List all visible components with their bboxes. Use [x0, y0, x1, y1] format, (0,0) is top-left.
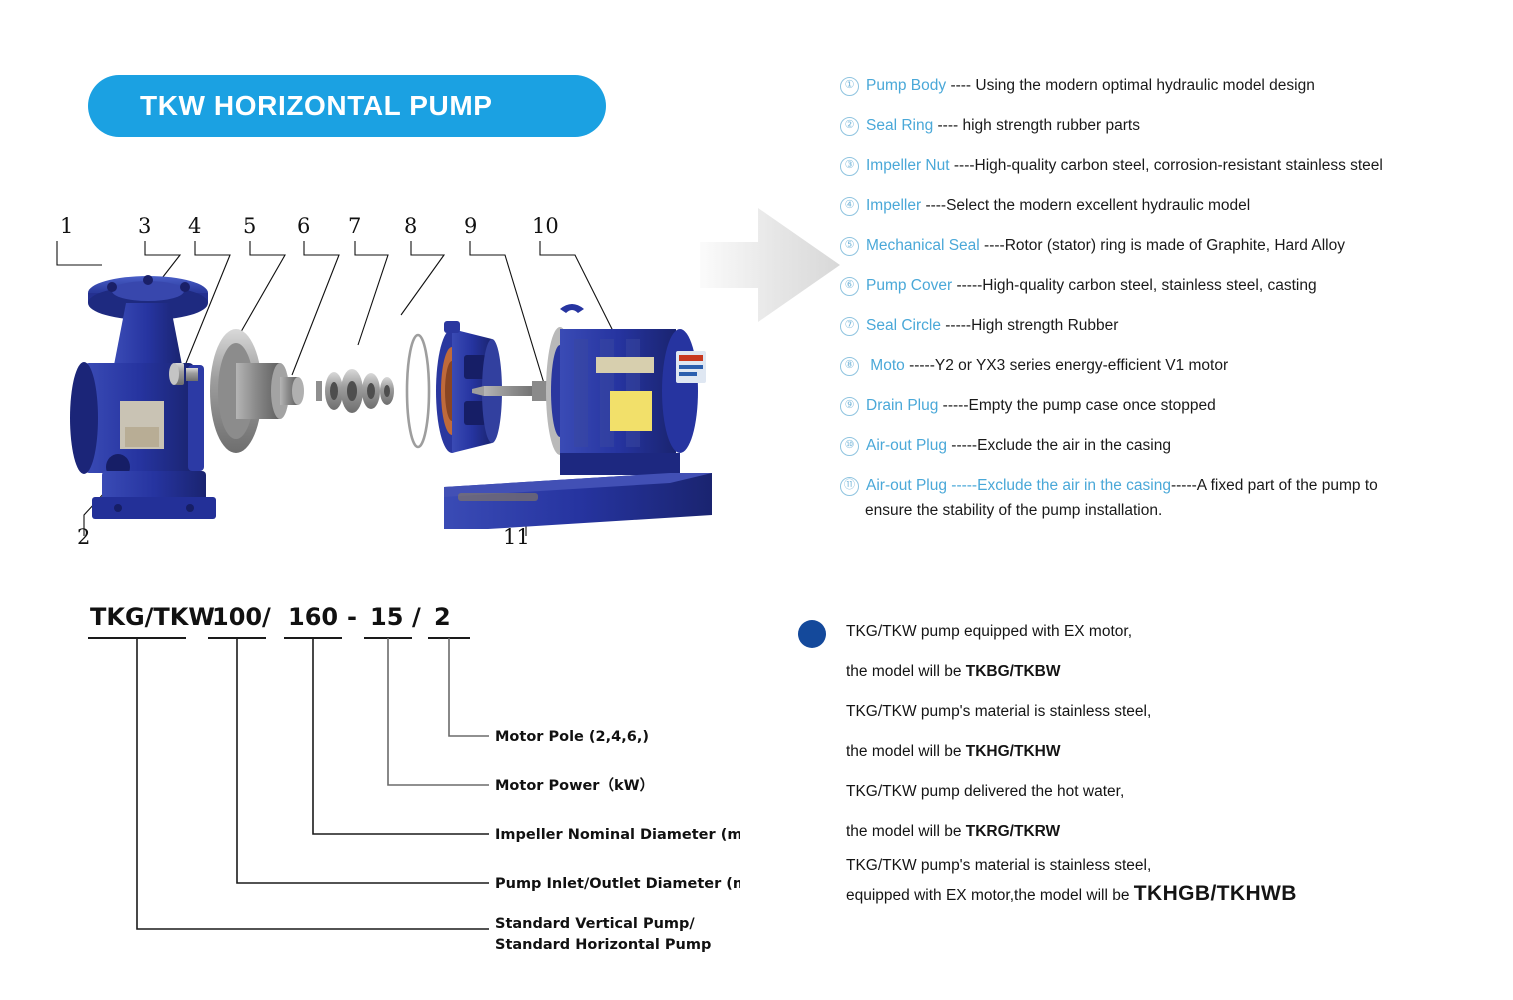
callout-impeller-diam: Impeller Nominal Diameter (mm): [495, 827, 740, 843]
feature-number-icon: ⑤: [840, 237, 859, 256]
feature-label: Seal Circle: [866, 317, 941, 334]
feature-description: Exclude the air in the casing: [977, 437, 1171, 454]
callout-motor-pole: Motor Pole (2,4,6,): [495, 729, 649, 745]
exploded-pump-diagram: 1 3 4 5 6 7 8 9 10 2 11: [40, 205, 730, 555]
feature-separator: ----: [950, 157, 975, 174]
callout-number-1: 1: [60, 214, 73, 238]
callout-number-5: 5: [243, 214, 256, 238]
feature-number-icon: ⑥: [840, 277, 859, 296]
feature-label: Seal Ring: [866, 117, 933, 134]
pump-casing-part: [70, 275, 216, 519]
feature-item-10: ⑩Air-out Plug -----Exclude the air in th…: [840, 426, 1500, 466]
feature-item-8: ⑧ Moto -----Y2 or YX3 series energy-effi…: [840, 346, 1500, 386]
note-text: the model will be: [846, 823, 966, 840]
feature-number-icon: ④: [840, 197, 859, 216]
feature-list: ①Pump Body ---- Using the modern optimal…: [840, 66, 1500, 523]
feature-number-icon: ⑪: [840, 477, 859, 496]
feature-separator: ----: [921, 197, 946, 214]
feature-number-icon: ③: [840, 157, 859, 176]
feature-description: Select the modern excellent hydraulic mo…: [946, 197, 1250, 214]
base-plate-part: [444, 473, 712, 529]
model-nomenclature-diagram: TKG/TKW 100 / 160 - 15 / 2: [40, 595, 740, 975]
note-line-7: TKG/TKW pump's material is stainless ste…: [846, 852, 1418, 880]
feature-label: Impeller: [866, 197, 921, 214]
feature-description: High strength Rubber: [971, 317, 1118, 334]
code-part-pole: 2: [434, 603, 451, 631]
feature-item-6: ⑥Pump Cover -----High-quality carbon ste…: [840, 266, 1500, 306]
callout-number-4: 4: [188, 214, 201, 238]
feature-description: Empty the pump case once stopped: [969, 397, 1216, 414]
feature-separator: ----: [980, 237, 1005, 254]
note-text: the model will be: [846, 663, 966, 680]
note-text: TKG/TKW pump equipped with EX motor,: [846, 623, 1132, 640]
feature-item-2: ②Seal Ring ---- high strength rubber par…: [840, 106, 1500, 146]
product-spec-sheet: TKW HORIZONTAL PUMP: [0, 0, 1513, 1000]
callout-number-10: 10: [532, 214, 559, 238]
callout-pump-type-line2: Standard Horizontal Pump: [495, 937, 711, 953]
callout-number-8: 8: [404, 214, 417, 238]
code-separator-1: /: [262, 603, 271, 631]
feature-description: A fixed part of the pump to: [1197, 477, 1378, 494]
feature-label: Air-out Plug: [866, 437, 947, 454]
feature-label: Impeller Nut: [866, 157, 950, 174]
note-text: TKG/TKW pump delivered the hot water,: [846, 783, 1124, 800]
seal-circle-part: [407, 335, 429, 447]
feature-separator: -----: [947, 477, 977, 494]
feature-item-9: ⑨Drain Plug -----Empty the pump case onc…: [840, 386, 1500, 426]
feature-number-icon: ⑨: [840, 397, 859, 416]
feature-separator: ----: [946, 77, 975, 94]
feature-separator: -----: [941, 317, 971, 334]
code-part-inlet: 100: [212, 603, 262, 631]
feature-description-line2: ensure the stability of the pump install…: [865, 498, 1500, 523]
feature-description: Using the modern optimal hydraulic model…: [975, 77, 1314, 94]
note-text: the model will be: [846, 743, 966, 760]
callout-pump-type-line1: Standard Vertical Pump/: [495, 916, 695, 932]
feature-separator-2: -----: [1171, 477, 1197, 494]
code-separator-3: /: [412, 603, 421, 631]
feature-item-1: ①Pump Body ---- Using the modern optimal…: [840, 66, 1500, 106]
feature-label: Moto: [866, 357, 905, 374]
feature-separator: -----: [938, 397, 968, 414]
callout-inlet-diam: Pump Inlet/Outlet Diameter (mm): [495, 876, 740, 892]
note-line-1: TKG/TKW pump equipped with EX motor,: [846, 612, 1418, 652]
callout-number-9: 9: [464, 214, 477, 238]
feature-number-icon: ⑧: [840, 357, 859, 376]
impeller-part: [210, 329, 304, 453]
mechanical-seal-part: [316, 369, 394, 413]
feature-label: Pump Cover: [866, 277, 952, 294]
feature-label: Air-out Plug: [866, 477, 947, 494]
callout-number-7: 7: [348, 214, 361, 238]
feature-item-11: ⑪Air-out Plug -----Exclude the air in th…: [840, 466, 1500, 523]
note-line-3: TKG/TKW pump's material is stainless ste…: [846, 692, 1418, 732]
motor-part: [546, 304, 706, 475]
code-part-series: TKG/TKW: [90, 603, 215, 631]
feature-separator: ----: [933, 117, 962, 134]
feature-item-7: ⑦Seal Circle -----High strength Rubber: [840, 306, 1500, 346]
feature-number-icon: ⑩: [840, 437, 859, 456]
feature-label: Pump Body: [866, 77, 946, 94]
feature-description: High-quality carbon steel, stainless ste…: [982, 277, 1316, 294]
feature-separator: -----: [905, 357, 935, 374]
right-arrow-separator: [700, 200, 850, 330]
page-title: TKW HORIZONTAL PUMP: [140, 90, 493, 122]
note-model-code-primary: TKHGB/TKHWB: [1134, 882, 1297, 905]
feature-item-3: ③Impeller Nut ----High-quality carbon st…: [840, 146, 1500, 186]
note-line-6: the model will be TKRG/TKRW: [846, 812, 1418, 852]
note-line-2: the model will be TKBG/TKBW: [846, 652, 1418, 692]
feature-item-5: ⑤Mechanical Seal ----Rotor (stator) ring…: [840, 226, 1500, 266]
feature-item-4: ④Impeller ----Select the modern excellen…: [840, 186, 1500, 226]
feature-number-icon: ⑦: [840, 317, 859, 336]
feature-separator: -----: [952, 277, 982, 294]
note-text: TKG/TKW pump's material is stainless ste…: [846, 857, 1151, 874]
feature-number-icon: ①: [840, 77, 859, 96]
note-line-4: the model will be TKHG/TKHW: [846, 732, 1418, 772]
note-line-8: equipped with EX motor,the model will be…: [846, 880, 1418, 908]
feature-label: Drain Plug: [866, 397, 938, 414]
feature-number-icon: ②: [840, 117, 859, 136]
bullet-dot-icon: [798, 620, 826, 648]
note-model-code: TKBG/TKBW: [966, 663, 1061, 680]
code-separator-2: -: [347, 603, 357, 631]
feature-separator: -----: [947, 437, 977, 454]
feature-description: High-quality carbon steel, corrosion-res…: [975, 157, 1383, 174]
code-part-power: 15: [370, 603, 403, 631]
note-text: TKG/TKW pump's material is stainless ste…: [846, 703, 1151, 720]
code-part-impeller: 160: [288, 603, 338, 631]
feature-description: Rotor (stator) ring is made of Graphite,…: [1005, 237, 1345, 254]
note-text: equipped with EX motor,the model will be: [846, 887, 1134, 904]
note-model-code: TKHG/TKHW: [966, 743, 1061, 760]
feature-description-blue: Exclude the air in the casing: [977, 477, 1171, 494]
page-title-banner: TKW HORIZONTAL PUMP: [88, 75, 606, 137]
note-line-5: TKG/TKW pump delivered the hot water,: [846, 772, 1418, 812]
feature-description: high strength rubber parts: [962, 117, 1140, 134]
note-model-code: TKRG/TKRW: [966, 823, 1060, 840]
callout-number-3: 3: [138, 214, 151, 238]
model-variant-notes: TKG/TKW pump equipped with EX motor, the…: [798, 612, 1418, 908]
feature-description: Y2 or YX3 series energy-efficient V1 mot…: [935, 357, 1228, 374]
feature-label: Mechanical Seal: [866, 237, 980, 254]
callout-motor-power: Motor Power（kW）: [495, 776, 654, 794]
callout-number-6: 6: [297, 214, 310, 238]
